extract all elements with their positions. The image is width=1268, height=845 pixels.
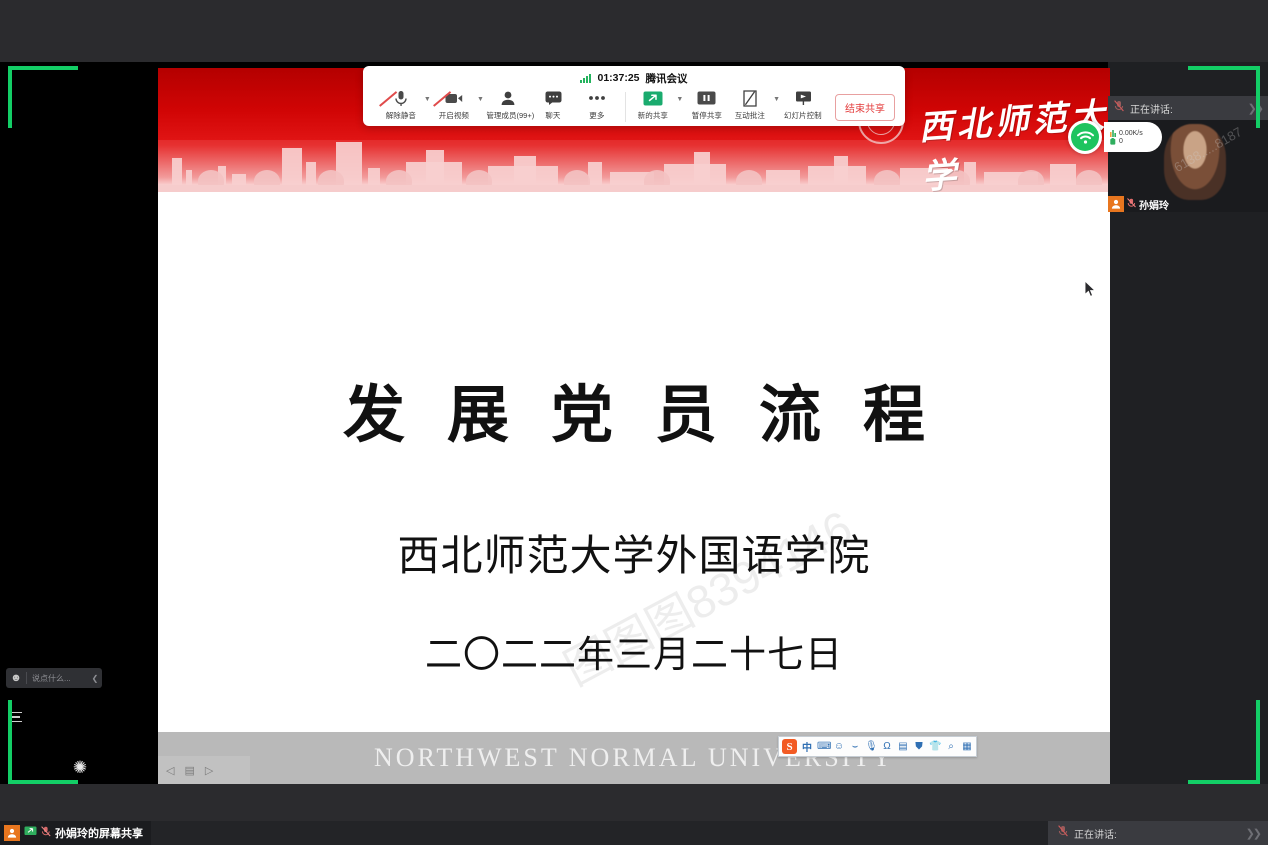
network-download-value: 0 [1119, 138, 1123, 145]
person-avatar-icon [1108, 196, 1124, 212]
emoji-smiley-icon[interactable]: ☻ [6, 672, 26, 684]
taskbar: 孙娟玲的屏幕共享 正在讲话: ❯❯ [0, 821, 1268, 845]
keyboard-switch-icon[interactable]: ⌨ [817, 741, 829, 752]
toolbar-label-participants: 管理成员(99+) [487, 110, 530, 120]
voice-mic-icon[interactable]: 🎙 [865, 741, 877, 752]
whiteboard-icon[interactable]: ▤ [184, 764, 194, 777]
unmute-caret-icon[interactable]: ▼ [423, 88, 432, 103]
participant-name-chip: 孙娟玲 [1108, 196, 1174, 212]
desktop-top-strip [0, 0, 1268, 62]
share-border-right-bottom [1256, 700, 1260, 784]
soft-keyboard-icon[interactable]: ▤ [897, 741, 909, 752]
chevron-left-icon[interactable]: ❮ [88, 674, 102, 683]
toolbar-button-participants[interactable]: 管理成员(99+) [485, 88, 531, 121]
screen-root: 西北师范大学 发展党员流程 图图图8394146 西北师范大学外国语学院 二〇二… [0, 0, 1268, 845]
meeting-app-name: 腾讯会议 [646, 71, 688, 86]
meeting-status-bar: 01:37:25 腾讯会议 [363, 69, 905, 87]
pinwheel-icon[interactable]: ✺ [70, 758, 90, 778]
search-icon[interactable]: ⌕ [945, 741, 957, 752]
signal-bars-icon [580, 74, 591, 83]
chevron-double-icon[interactable]: ❯❯ [1246, 827, 1260, 840]
participant-name: 孙娟玲 [1139, 197, 1169, 212]
slide-body: 发展党员流程 图图图8394146 西北师范大学外国语学院 二〇二二年三月二十七… [158, 192, 1110, 732]
share-border-right-top [1256, 66, 1260, 128]
upload-bars-icon [1110, 130, 1116, 137]
expression-icon[interactable]: ⌣ [849, 741, 861, 752]
wifi-icon [1068, 120, 1102, 154]
toolbar-button-chat[interactable]: 聊天 [531, 88, 575, 121]
camera-muted-icon [432, 88, 476, 108]
speaking-label: 正在讲话: [1130, 101, 1173, 116]
toolbar-label-annotation: 互动批注 [730, 110, 771, 120]
skin-shirt-icon[interactable]: 👕 [929, 741, 941, 752]
user-center-icon[interactable]: ⛊ [913, 741, 925, 752]
omega-symbol-icon[interactable]: Ω [881, 741, 893, 752]
toolbar-label-chat: 聊天 [533, 110, 574, 120]
video-caret-icon[interactable]: ▼ [476, 88, 485, 103]
slide-title: 发展党员流程 [158, 364, 1110, 454]
toolbar-label-pause-share: 暂停共享 [686, 110, 727, 120]
share-border-left-top [8, 66, 12, 128]
slide-navigation-controls: ◁ ▤ ▷ [158, 756, 250, 784]
network-speed-popup: 0.00K/s 0 [1104, 122, 1162, 152]
ime-mode-label[interactable]: 中 [801, 739, 813, 754]
taskbar-share-label: 孙娟玲的屏幕共享 [55, 825, 143, 841]
toolbar-button-pause-share[interactable]: 暂停共享 [685, 88, 729, 121]
meeting-toolbar: 01:37:25 腾讯会议 解除静音 ▼ 开启视频 ▼ [363, 66, 905, 126]
toolbar-button-unmute[interactable]: 解除静音 [379, 88, 423, 121]
share-border-left-bottom [8, 700, 12, 784]
toolbar-button-new-share[interactable]: 新的共享 [631, 88, 675, 121]
share-screen-icon [631, 88, 675, 108]
toolbar-button-more[interactable]: 更多 [575, 88, 619, 121]
slide-control-icon [781, 88, 825, 108]
battery-icon [1110, 138, 1116, 145]
person-avatar-icon [4, 825, 20, 841]
share-border-top-right [1188, 66, 1260, 70]
speaking-header: 正在讲话: ❯❯ [1108, 96, 1268, 120]
more-dots-icon [575, 88, 619, 108]
sogou-s-icon[interactable]: S [782, 739, 797, 754]
toolbox-grid-icon[interactable]: ▦ [961, 741, 973, 752]
toolbar-label-new-share: 新的共享 [633, 110, 674, 120]
toolbar-button-start-video[interactable]: 开启视频 [432, 88, 476, 121]
microphone-muted-icon [379, 88, 423, 108]
taskbar-speaking-panel[interactable]: 正在讲话: ❯❯ [1048, 821, 1268, 845]
microphone-muted-icon [1127, 195, 1136, 212]
taskbar-speaking-label: 正在讲话: [1074, 826, 1117, 841]
toolbar-button-slide-control[interactable]: 幻灯片控制 [781, 88, 825, 121]
meeting-toolbar-items: 解除静音 ▼ 开启视频 ▼ 管理成员(99+) [363, 87, 905, 122]
sogou-ime-bar: S 中 ⌨ ☺ ⌣ 🎙 Ω ▤ ⛊ 👕 ⌕ ▦ [778, 736, 977, 757]
prev-slide-icon[interactable]: ◁ [166, 764, 174, 777]
share-border-bottom-right [1188, 780, 1260, 784]
pause-icon [685, 88, 729, 108]
microphone-muted-icon [41, 824, 51, 842]
next-slide-icon[interactable]: ▷ [205, 764, 213, 777]
emoji-face-icon[interactable]: ☺ [833, 741, 845, 752]
slide-subtitle: 西北师范大学外国语学院 [158, 522, 1110, 583]
shared-slide-window: 西北师范大学 发展党员流程 图图图8394146 西北师范大学外国语学院 二〇二… [158, 68, 1110, 784]
toolbar-button-annotation[interactable]: 互动批注 [728, 88, 772, 121]
new-share-caret-icon[interactable]: ▼ [675, 88, 684, 103]
toolbar-label-more: 更多 [576, 110, 617, 120]
toolbar-label-start-video: 开启视频 [433, 110, 474, 120]
toolbar-label-slide-control: 幻灯片控制 [783, 110, 824, 120]
comment-placeholder: 说点什么... [27, 673, 88, 684]
screen-share-icon [24, 824, 37, 842]
toolbar-divider [625, 92, 626, 122]
end-share-button[interactable]: 结束共享 [835, 94, 895, 121]
taskbar-share-item[interactable]: 孙娟玲的屏幕共享 [0, 821, 151, 845]
network-download-row: 0 [1110, 138, 1162, 145]
participants-icon [485, 88, 531, 108]
annotation-caret-icon[interactable]: ▼ [772, 88, 781, 103]
toolbar-label-unmute: 解除静音 [380, 110, 421, 120]
share-border-bottom-left [8, 780, 78, 784]
slide-date: 二〇二二年三月二十七日 [158, 624, 1110, 678]
annotation-pen-icon [728, 88, 772, 108]
network-upload-row: 0.00K/s [1110, 130, 1162, 137]
chat-bubble-icon [531, 88, 575, 108]
microphone-muted-icon [1114, 99, 1124, 117]
comment-input-bar[interactable]: ☻ 说点什么... ❮ [6, 668, 102, 688]
share-border-top-left [8, 66, 78, 70]
microphone-muted-icon [1058, 824, 1068, 842]
meeting-elapsed-time: 01:37:25 [597, 72, 639, 84]
network-upload-value: 0.00K/s [1119, 130, 1143, 137]
